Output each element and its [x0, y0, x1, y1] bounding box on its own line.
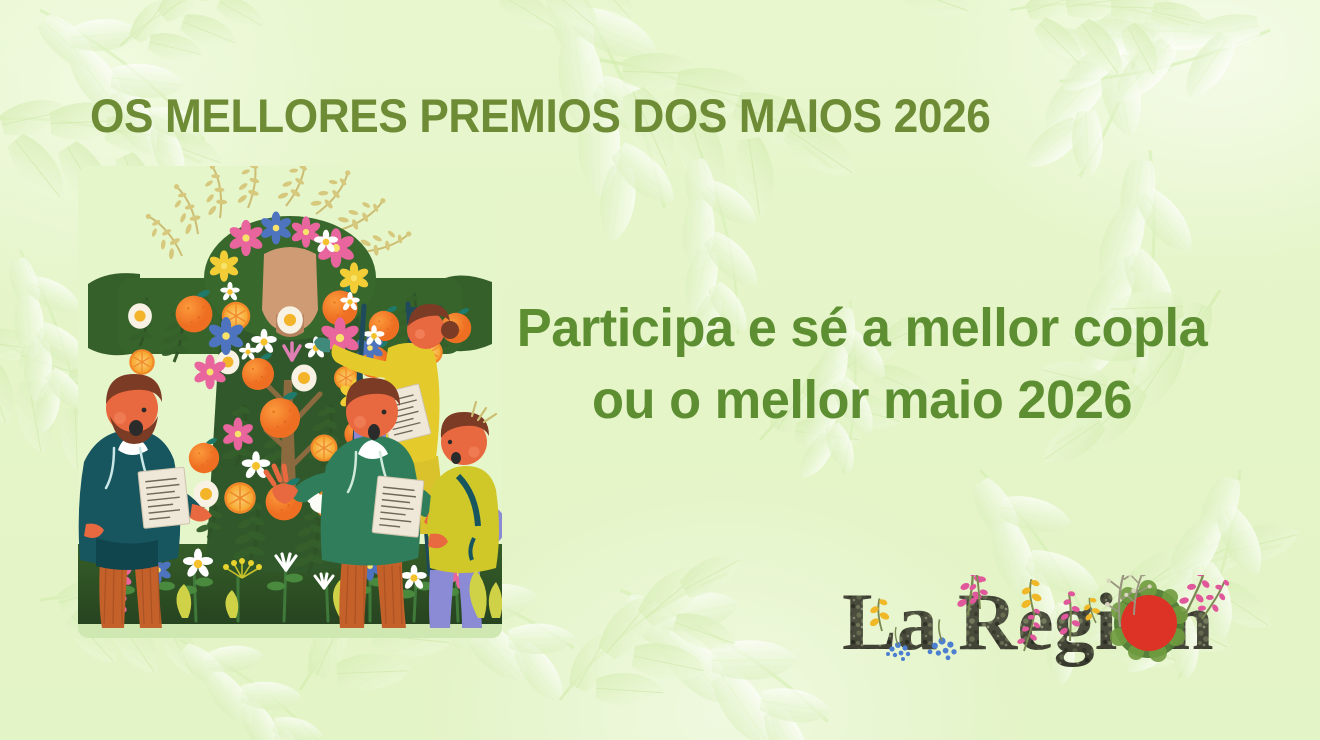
promo-message-line-1: Participa e sé a mellor copla	[464, 293, 1259, 365]
la-region-logo[interactable]: La Región	[838, 575, 1258, 667]
maio-illustration: Traditional Galician Maio cone decorated…	[78, 166, 502, 638]
page-title: OS MELLORES PREMIOS DOS MAIOS 2026	[90, 92, 990, 139]
promo-message: Participa e sé a mellor copla ou o mello…	[452, 293, 1272, 437]
promo-message-line-2: ou o mellor maio 2026	[464, 365, 1259, 437]
poster-canvas: OS MELLORES PREMIOS DOS MAIOS 2026 Parti…	[0, 0, 1320, 740]
